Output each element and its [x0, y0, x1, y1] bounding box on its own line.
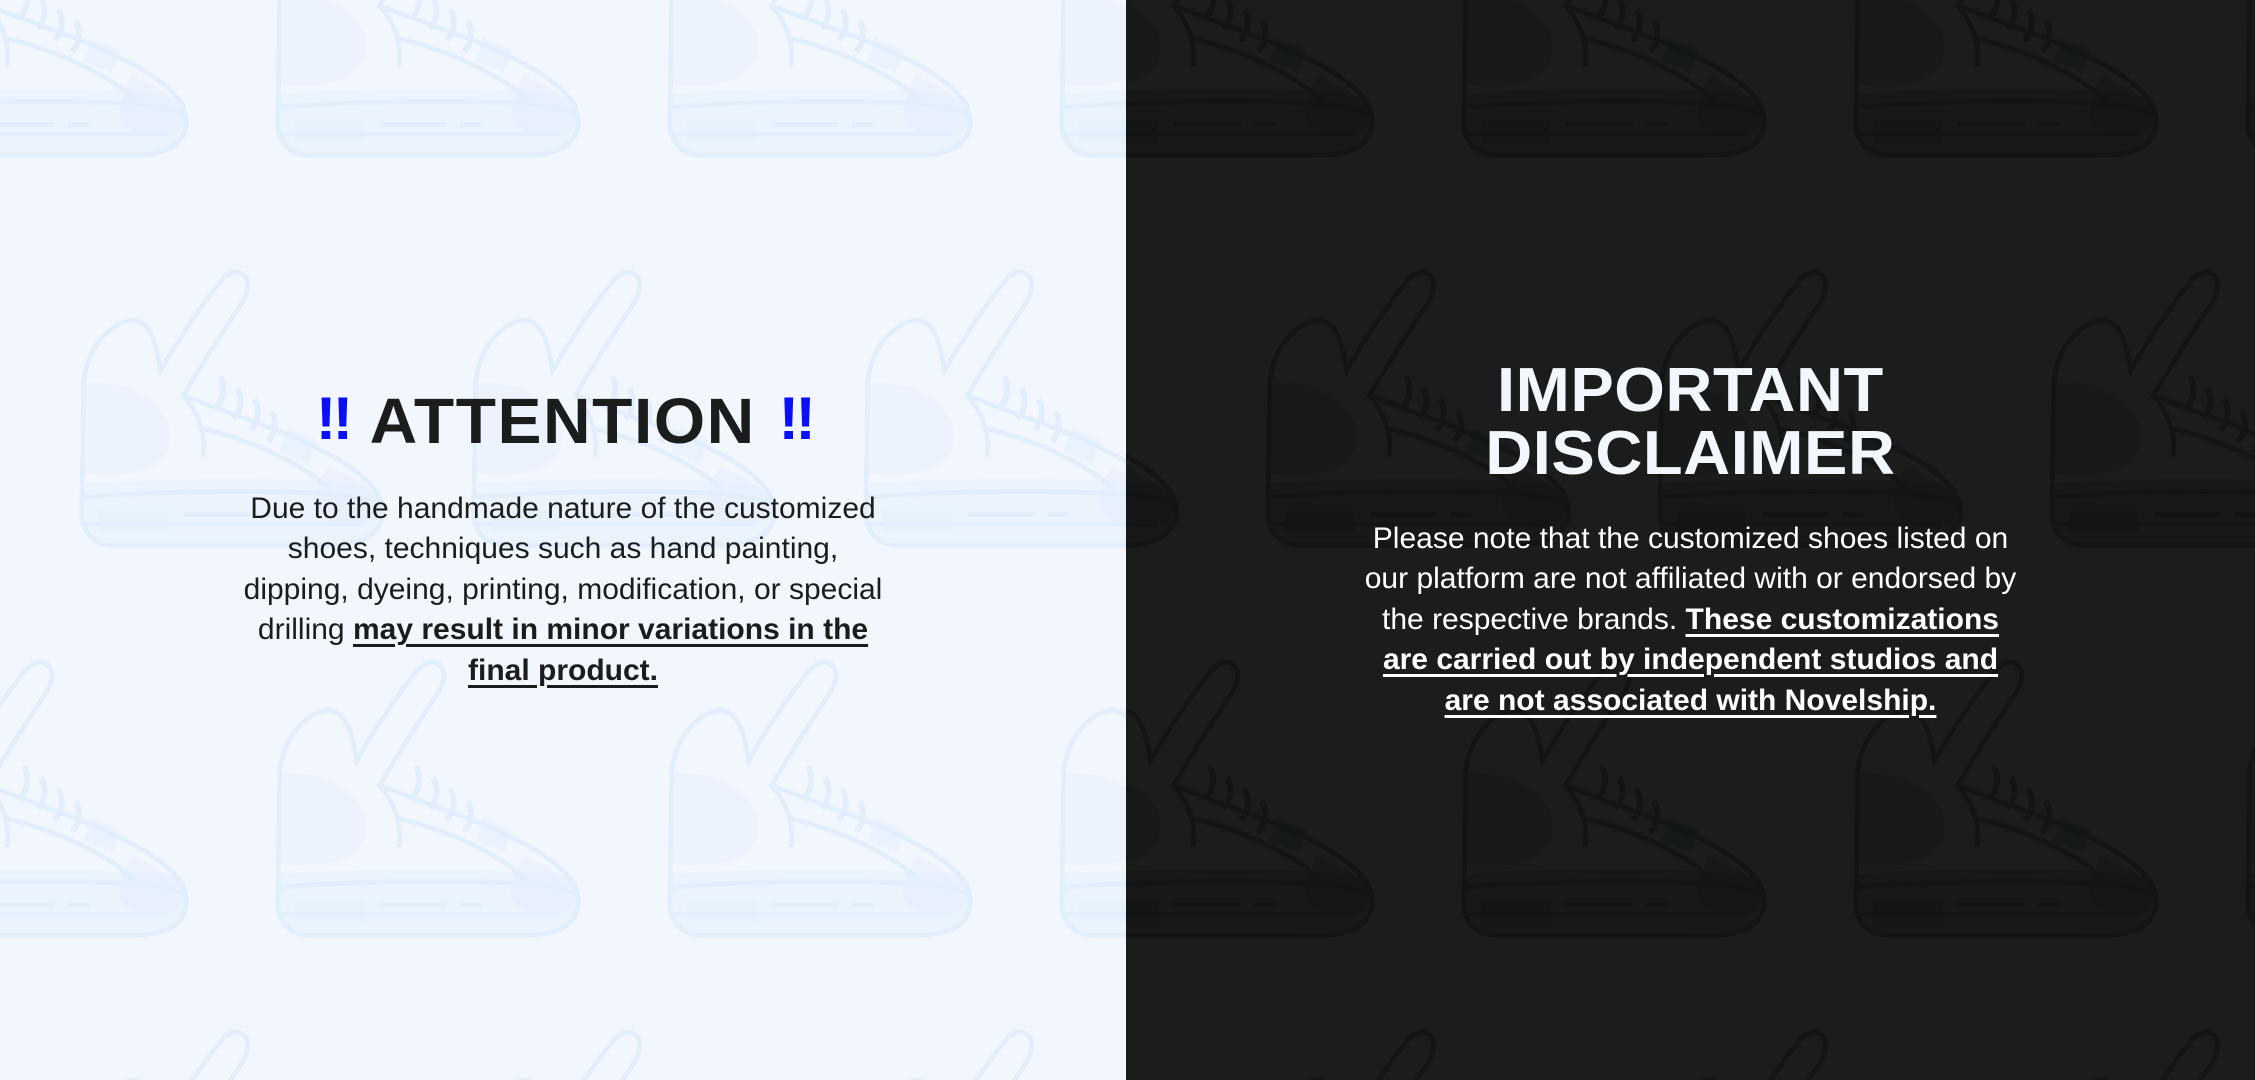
disclaimer-headline: IMPORTANT DISCLAIMER [1485, 359, 1895, 485]
disclaimer-body: Please note that the customized shoes li… [1363, 519, 2019, 722]
disclaimer-content: IMPORTANT DISCLAIMER Please note that th… [1126, 0, 2255, 1080]
double-exclamation-right-icon: ‼ [779, 389, 810, 449]
disclaimer-banner: ‼ ATTENTION ‼ Due to the handmade nature… [0, 0, 2255, 1080]
double-exclamation-left-icon: ‼ [316, 389, 347, 449]
disclaimer-panel: IMPORTANT DISCLAIMER Please note that th… [1126, 0, 2255, 1080]
disclaimer-headline-line-1: IMPORTANT [1485, 359, 1895, 422]
attention-body: Due to the handmade nature of the custom… [243, 489, 883, 692]
attention-content: ‼ ATTENTION ‼ Due to the handmade nature… [0, 0, 1126, 1080]
attention-panel: ‼ ATTENTION ‼ Due to the handmade nature… [0, 0, 1126, 1080]
attention-body-emphasis: may result in minor variations in the fi… [353, 613, 868, 687]
attention-headline: ‼ ATTENTION ‼ [316, 389, 810, 453]
attention-headline-word: ATTENTION [370, 389, 756, 453]
disclaimer-headline-line-2: DISCLAIMER [1485, 422, 1895, 485]
